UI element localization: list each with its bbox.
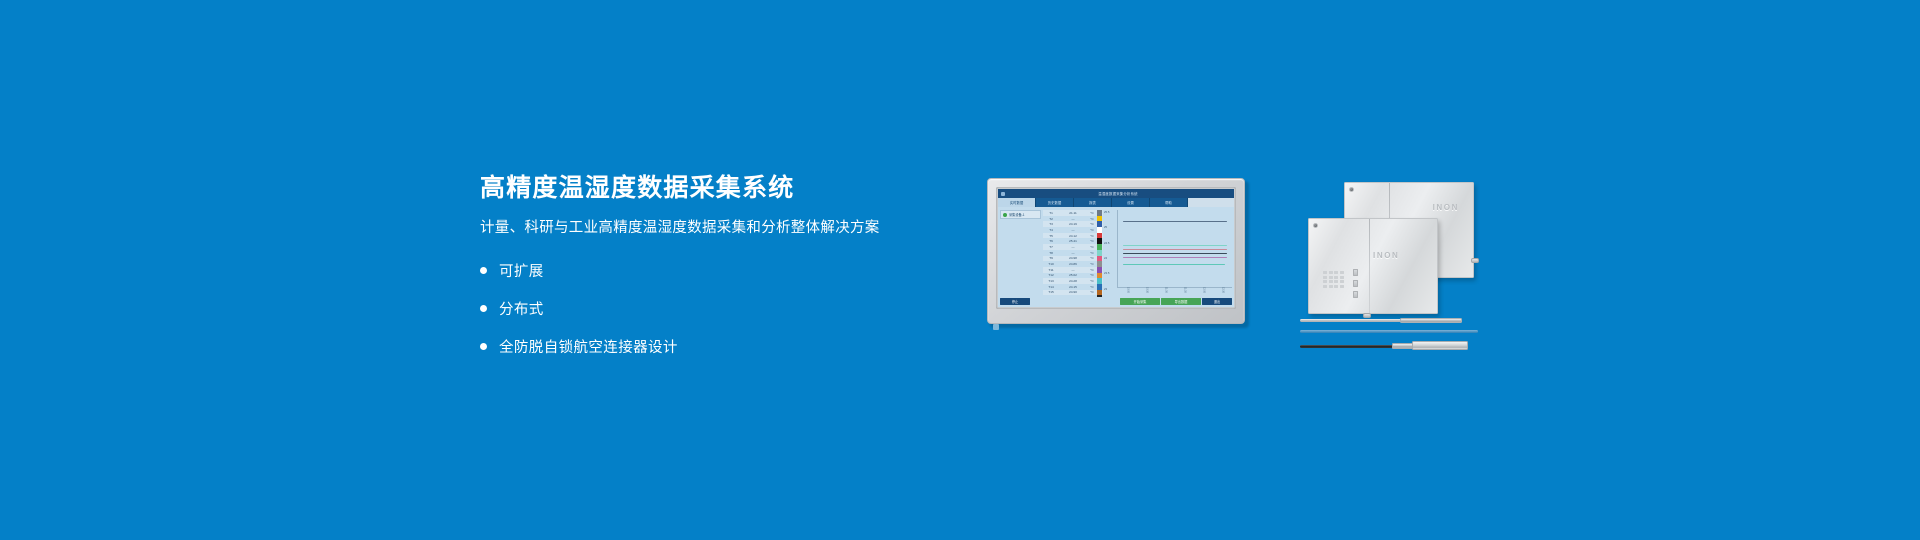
table-row[interactable]: T1424.15°C xyxy=(1043,284,1103,290)
tab-settings[interactable]: 设置 xyxy=(1112,198,1150,207)
channel-unit: °C xyxy=(1087,251,1097,255)
channel-id: T15 xyxy=(1043,290,1059,294)
y-axis-tick-label: 25 xyxy=(1104,225,1107,229)
channel-unit: °C xyxy=(1087,290,1097,294)
chart-x-axis: 10:0010:3011:0011:3012:0012:30 xyxy=(1118,287,1232,296)
channel-unit: °C xyxy=(1087,228,1097,232)
bullet-icon xyxy=(480,305,487,312)
tree-node-device[interactable]: 采集设备-1 xyxy=(1000,210,1041,219)
software-tabbar: 实时数据 历史数据 报表 设置 帮助 xyxy=(998,198,1234,207)
channel-value: 24.90 xyxy=(1059,290,1087,294)
tabbar-filler xyxy=(1188,198,1234,207)
software-footer: 停止 开始采集 导出数据 退出 xyxy=(998,297,1234,307)
channel-unit: °C xyxy=(1087,285,1097,289)
software-window-title: 温湿度数据采集分析系统 xyxy=(1005,191,1231,196)
port-slot xyxy=(1353,269,1358,276)
channel-value: — xyxy=(1059,268,1087,272)
channel-id: T13 xyxy=(1043,279,1059,283)
channel-value: 24.19 xyxy=(1059,222,1087,226)
chart-trend-line xyxy=(1123,245,1228,246)
bullet-icon xyxy=(480,343,487,350)
page-subtitle: 计量、科研与工业高精度温湿度数据采集和分析整体解决方案 xyxy=(480,218,960,238)
brand-label: INON xyxy=(1373,251,1399,260)
brand-label: INON xyxy=(1433,203,1459,212)
table-row[interactable]: T1524.90°C xyxy=(1043,290,1103,296)
device-tree: 采集设备-1 xyxy=(1000,210,1043,297)
feature-label: 可扩展 xyxy=(499,260,544,281)
chart-trend-line xyxy=(1123,257,1228,258)
channel-id: T12 xyxy=(1043,273,1059,277)
product-monitor: 温湿度数据采集分析系统 实时数据 历史数据 报表 设置 帮助 采集设备-1 xyxy=(987,178,1249,328)
start-acquisition-button[interactable]: 开始采集 xyxy=(1120,298,1160,305)
channel-unit: °C xyxy=(1087,256,1097,260)
port-column xyxy=(1353,269,1358,298)
x-axis-tick-label: 12:00 xyxy=(1202,287,1204,296)
probe-cable xyxy=(1300,345,1396,348)
hero-text-block: 高精度温湿度数据采集系统 计量、科研与工业高精度温湿度数据采集和分析整体解决方案… xyxy=(480,172,960,374)
channel-value: — xyxy=(1059,217,1087,221)
tab-history-data[interactable]: 历史数据 xyxy=(1036,198,1074,207)
x-axis-tick-label: 11:00 xyxy=(1164,287,1166,296)
channel-id: T11 xyxy=(1043,268,1059,272)
table-row[interactable]: T8—°C xyxy=(1043,250,1103,256)
channel-unit: °C xyxy=(1087,222,1097,226)
page-title: 高精度温湿度数据采集系统 xyxy=(480,172,960,204)
channel-unit: °C xyxy=(1087,217,1097,221)
channel-id: T1 xyxy=(1043,211,1059,215)
list-item: 分布式 xyxy=(480,298,960,319)
channel-id: T10 xyxy=(1043,262,1059,266)
feature-label: 分布式 xyxy=(499,298,544,319)
channel-value: 24.12 xyxy=(1059,234,1087,238)
footer-spacer xyxy=(1031,298,1119,305)
exit-button[interactable]: 退出 xyxy=(1202,298,1232,305)
tab-help[interactable]: 帮助 xyxy=(1150,198,1188,207)
probe-barrel xyxy=(1412,341,1468,350)
probe-cable xyxy=(1300,330,1478,333)
feature-list: 可扩展 分布式 全防脱自锁航空连接器设计 xyxy=(480,260,960,357)
chart-plot-area: 10:0010:3011:0011:3012:0012:30 xyxy=(1117,210,1232,288)
sensor-probes xyxy=(1300,316,1482,362)
channel-id: T5 xyxy=(1043,234,1059,238)
channel-value: — xyxy=(1059,245,1087,249)
y-axis-tick-label: 25.5 xyxy=(1104,210,1109,214)
channel-unit: °C xyxy=(1087,211,1097,215)
channel-unit: °C xyxy=(1087,234,1097,238)
x-axis-tick-label: 10:30 xyxy=(1145,287,1147,296)
port-slot xyxy=(1353,291,1358,298)
table-row[interactable]: T7—°C xyxy=(1043,244,1103,250)
tab-report[interactable]: 报表 xyxy=(1074,198,1112,207)
terminal-block-grid xyxy=(1323,271,1344,288)
table-row[interactable]: T324.19°C xyxy=(1043,221,1103,227)
channel-unit: °C xyxy=(1087,239,1097,243)
channel-value: 24.28 xyxy=(1059,279,1087,283)
channel-value: 25.02 xyxy=(1059,273,1087,277)
probe-shaft xyxy=(1300,319,1404,322)
software-body: 采集设备-1 T121.11°CT2—°CT324.19°CT4—°CT524.… xyxy=(998,207,1234,297)
table-row[interactable]: T4—°C xyxy=(1043,227,1103,233)
monitor-bezel: 温湿度数据采集分析系统 实时数据 历史数据 报表 设置 帮助 采集设备-1 xyxy=(987,178,1245,324)
stop-button[interactable]: 停止 xyxy=(1000,298,1030,305)
channel-unit: °C xyxy=(1087,245,1097,249)
channel-value: 24.86 xyxy=(1059,262,1087,266)
table-row[interactable]: T11—°C xyxy=(1043,267,1103,273)
chart-trend-line xyxy=(1123,249,1228,250)
channel-unit: °C xyxy=(1087,268,1097,272)
export-data-button[interactable]: 导出数据 xyxy=(1161,298,1201,305)
table-row[interactable]: T924.98°C xyxy=(1043,256,1103,262)
table-row[interactable]: T524.12°C xyxy=(1043,233,1103,239)
screw-icon xyxy=(1313,223,1318,228)
monitor-screen: 温湿度数据采集分析系统 实时数据 历史数据 报表 设置 帮助 采集设备-1 xyxy=(998,189,1234,307)
channel-value: 25.41 xyxy=(1059,239,1087,243)
channel-unit: °C xyxy=(1087,279,1097,283)
monitor-stand xyxy=(993,324,999,330)
channel-id: T7 xyxy=(1043,245,1059,249)
channel-id: T2 xyxy=(1043,217,1059,221)
channel-unit: °C xyxy=(1087,273,1097,277)
y-axis-tick-label: 24 xyxy=(1104,256,1107,260)
table-row[interactable]: T1225.02°C xyxy=(1043,273,1103,279)
monitor-inner-frame: 温湿度数据采集分析系统 实时数据 历史数据 报表 设置 帮助 采集设备-1 xyxy=(996,187,1236,309)
chart-trend-line xyxy=(1123,264,1226,265)
channel-id: T14 xyxy=(1043,285,1059,289)
enclosure-front-unit: INON xyxy=(1308,218,1438,314)
probe-ferrule xyxy=(1392,343,1414,349)
channel-unit: °C xyxy=(1087,262,1097,266)
tab-realtime-data[interactable]: 实时数据 xyxy=(998,198,1036,207)
table-row[interactable]: T2—°C xyxy=(1043,216,1103,222)
table-row[interactable]: T1324.28°C xyxy=(1043,278,1103,284)
x-axis-tick-label: 10:00 xyxy=(1126,287,1128,296)
feature-label: 全防脱自锁航空连接器设计 xyxy=(499,336,678,357)
channel-value: 24.15 xyxy=(1059,285,1087,289)
x-axis-tick-label: 11:30 xyxy=(1183,287,1185,296)
channel-id: T6 xyxy=(1043,239,1059,243)
channel-value: 24.98 xyxy=(1059,256,1087,260)
table-row[interactable]: T1024.86°C xyxy=(1043,261,1103,267)
tree-node-label: 采集设备-1 xyxy=(1009,212,1025,217)
table-row[interactable]: T121.11°C xyxy=(1043,210,1103,216)
channel-value: — xyxy=(1059,251,1087,255)
list-item: 全防脱自锁航空连接器设计 xyxy=(480,336,960,357)
y-axis-tick-label: 24.5 xyxy=(1104,241,1109,245)
chart-trend-line xyxy=(1123,253,1228,254)
channel-id: T4 xyxy=(1043,228,1059,232)
channel-value: — xyxy=(1059,228,1087,232)
channel-table: T121.11°CT2—°CT324.19°CT4—°CT524.12°CT62… xyxy=(1043,210,1103,297)
status-online-icon xyxy=(1003,213,1007,217)
table-row[interactable]: T625.41°C xyxy=(1043,238,1103,244)
probe-sensor-tip xyxy=(1400,318,1462,323)
chart-trend-line xyxy=(1123,221,1228,222)
enclosure-seam xyxy=(1369,219,1370,313)
chart-y-axis: 25.52524.52423.523 xyxy=(1103,210,1117,297)
list-item: 可扩展 xyxy=(480,260,960,281)
channel-id: T9 xyxy=(1043,256,1059,260)
x-axis-tick-label: 12:30 xyxy=(1221,287,1223,296)
software-titlebar: 温湿度数据采集分析系统 xyxy=(998,189,1234,198)
channel-value: 21.11 xyxy=(1059,211,1087,215)
connector-port xyxy=(1471,258,1479,263)
port-slot xyxy=(1353,280,1358,287)
bullet-icon xyxy=(480,267,487,274)
channel-id: T3 xyxy=(1043,222,1059,226)
channel-id: T8 xyxy=(1043,251,1059,255)
screw-icon xyxy=(1349,187,1354,192)
y-axis-tick-label: 23.5 xyxy=(1104,271,1109,275)
y-axis-tick-label: 23 xyxy=(1104,287,1107,291)
